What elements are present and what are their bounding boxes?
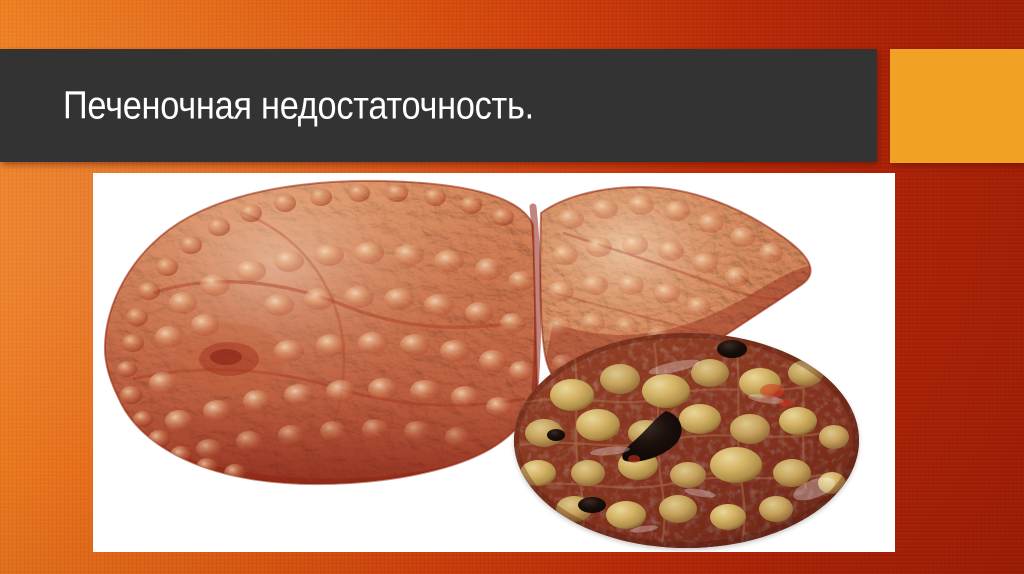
presentation-slide: Печеночная недостаточность.	[0, 0, 1024, 574]
page-title-text: Печеночная недостаточность.	[63, 86, 534, 125]
title-banner: Печеночная недостаточность.	[0, 49, 877, 162]
cirrhotic-liver-cut-surface-inset	[514, 333, 859, 548]
figure-panel	[93, 173, 895, 552]
liver-right-lobe	[93, 173, 553, 503]
page-title: Печеночная недостаточность.	[63, 86, 598, 125]
accent-square	[890, 49, 1024, 163]
cut-surface-svg	[514, 333, 859, 548]
